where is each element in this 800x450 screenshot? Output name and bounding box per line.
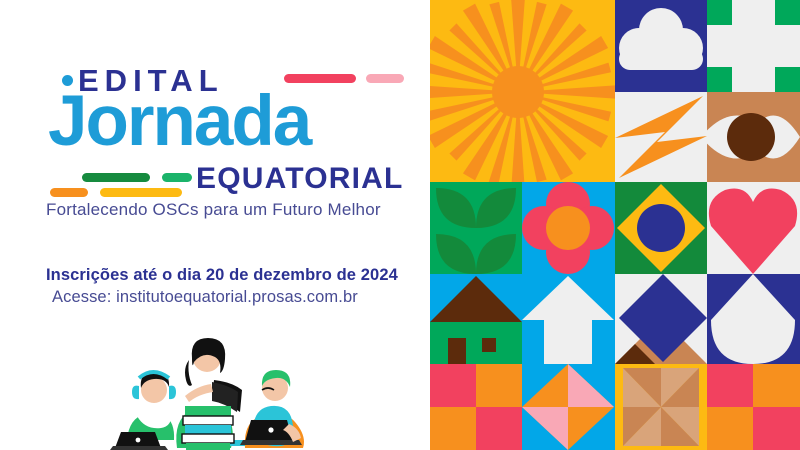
diamond-icon (615, 274, 707, 364)
plus-tile (707, 0, 800, 92)
arrow-up-tile (522, 274, 615, 364)
student-left (110, 371, 176, 450)
website-text: Acesse: institutoequatorial.prosas.com.b… (52, 288, 358, 307)
green-accent-bar-short (162, 173, 192, 182)
flower-icon (522, 182, 615, 274)
heart-tile (707, 182, 800, 274)
diamond-quad-tile (522, 364, 615, 450)
checker-tile-right (707, 364, 800, 450)
plant-leaves-icon (430, 182, 522, 274)
house-icon (430, 274, 522, 364)
student-right (240, 370, 304, 448)
geometric-pattern-grid (430, 0, 800, 450)
pinwheel-icon (615, 364, 707, 450)
book-stack (182, 406, 234, 450)
diamond-tile (615, 274, 707, 364)
students-illustration (85, 328, 325, 450)
cloud-icon (615, 0, 707, 92)
orange-accent-bar (50, 188, 88, 197)
tagline: Fortalecendo OSCs para um Futuro Melhor (46, 200, 381, 220)
jornada-equatorial-logo: EDITAL Jornada EQUATORIAL (46, 52, 396, 222)
pink-accent-bar (366, 74, 404, 83)
plus-icon (707, 0, 800, 92)
flower-tile (522, 182, 615, 274)
water-drop-tile (707, 274, 800, 364)
heart-icon (707, 182, 800, 274)
lightning-tile (615, 92, 707, 182)
deadline-text: Inscrições até o dia 20 de dezembro de 2… (46, 266, 398, 285)
checker-tile-left (430, 364, 522, 450)
pinwheel-tile (615, 364, 707, 450)
left-content-panel: EDITAL Jornada EQUATORIAL Fortalecendo O… (0, 0, 430, 450)
house-tile (430, 274, 522, 364)
water-drop-icon (707, 274, 800, 364)
equatorial-word: EQUATORIAL (196, 164, 404, 194)
eye-icon (707, 92, 800, 182)
arrow-up-icon (522, 274, 615, 364)
green-accent-bar-long (82, 173, 150, 182)
brazil-flag-tile (615, 182, 707, 274)
sun-tile (430, 0, 615, 182)
lightning-bolt-icon (615, 92, 707, 182)
jornada-word: Jornada (48, 86, 310, 157)
yellow-accent-bar (100, 188, 182, 197)
checkerboard-icon (430, 364, 522, 450)
diamond-quad-icon (522, 364, 615, 450)
checkerboard-icon (707, 364, 800, 450)
plant-tile (430, 182, 522, 274)
sun-icon (430, 0, 615, 182)
flag-diamond-icon (615, 182, 707, 274)
promotional-banner: EDITAL Jornada EQUATORIAL Fortalecendo O… (0, 0, 800, 450)
cloud-tile (615, 0, 707, 92)
eye-tile (707, 92, 800, 182)
